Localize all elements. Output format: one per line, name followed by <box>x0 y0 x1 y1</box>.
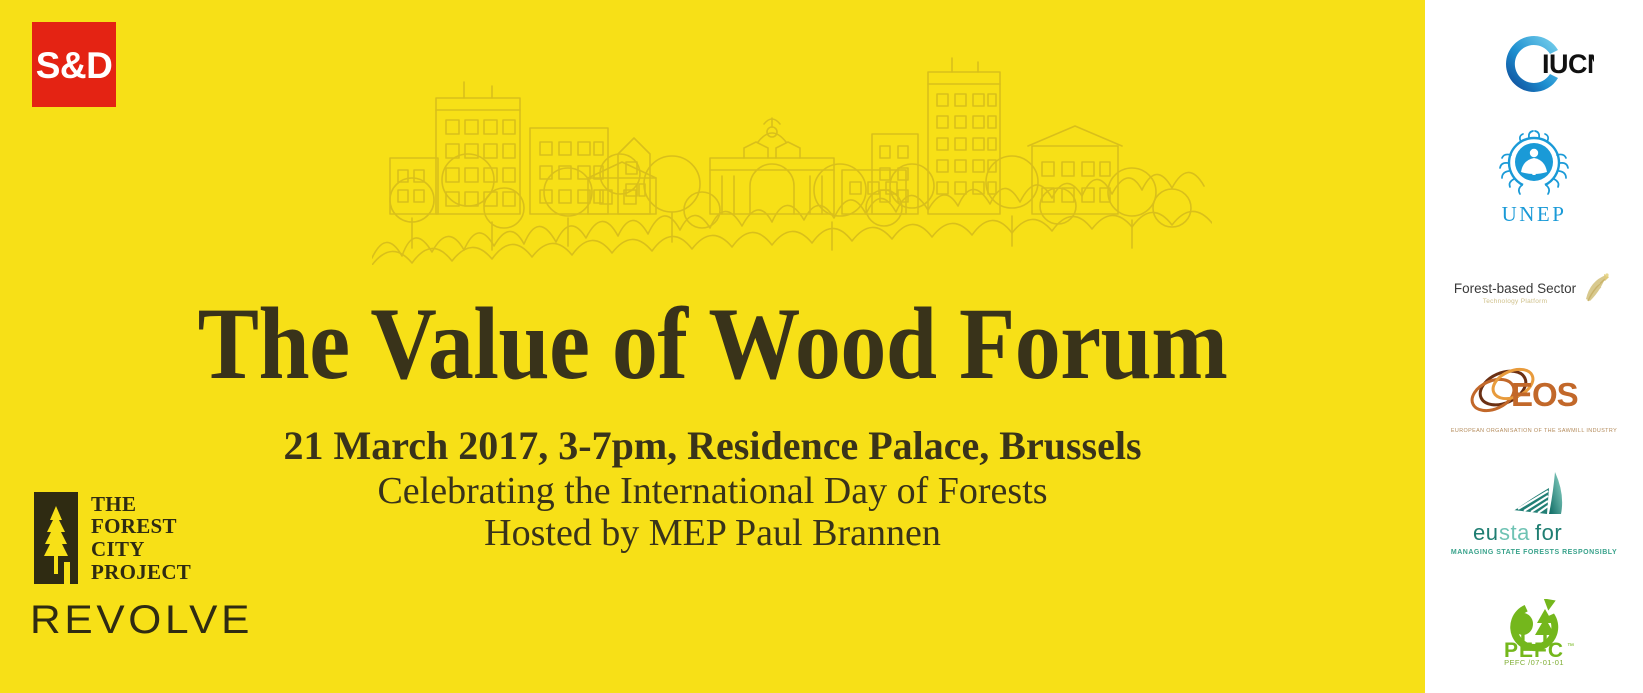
svg-text:IUCN: IUCN <box>1542 49 1594 79</box>
forest-city-project-wordmark: THE FOREST CITY PROJECT <box>91 493 191 584</box>
sd-logo: S&D <box>32 22 116 107</box>
partner-logo-rail: IUCN <box>1425 0 1643 693</box>
partner-logo-pefc: PEFC ™ PEFC /07-01-01 <box>1425 574 1643 693</box>
pefc-subtitle: PEFC /07-01-01 <box>1504 659 1564 668</box>
unep-wordmark: UNEP <box>1502 202 1567 227</box>
svg-text:sta: sta <box>1499 520 1530 545</box>
svg-text:eu: eu <box>1473 520 1498 545</box>
partner-logo-eustafor: eu sta for MANAGING STATE FORESTS RESPON… <box>1425 452 1643 573</box>
eustafor-subtitle: MANAGING STATE FORESTS RESPONSIBLY <box>1451 549 1617 557</box>
partner-logo-iucn: IUCN <box>1425 6 1643 121</box>
forest-city-project-logo: THE FOREST CITY PROJECT <box>34 492 191 584</box>
tree-in-panel-icon <box>34 492 78 584</box>
svg-text:EOS: EOS <box>1511 376 1578 413</box>
sd-logo-text: S&D <box>36 47 113 84</box>
partner-logo-unep: UNEP <box>1425 121 1643 233</box>
fcp-line-1: THE <box>91 493 191 516</box>
partner-logo-eos: EOS EUROPEAN ORGANISATION OF THE SAWMILL… <box>1425 343 1643 452</box>
fcp-line-3: CITY <box>91 538 191 561</box>
svg-text:™: ™ <box>1567 643 1574 650</box>
eos-loops-icon: EOS <box>1459 362 1609 426</box>
fcp-line-2: FOREST <box>91 515 191 538</box>
eos-subtitle: EUROPEAN ORGANISATION OF THE SAWMILL IND… <box>1451 428 1617 434</box>
page-title: The Value of Wood Forum <box>0 292 1425 395</box>
city-skyline-illustration <box>372 50 1212 265</box>
svg-text:PEFC: PEFC <box>1504 639 1564 657</box>
event-tagline: Celebrating the International Day of For… <box>0 470 1425 513</box>
un-globe-laurel-icon <box>1495 129 1573 201</box>
svg-text:for: for <box>1535 520 1562 545</box>
fbs-wordmark: Forest-based Sector <box>1454 281 1576 297</box>
pefc-two-trees-icon: PEFC ™ <box>1488 599 1580 657</box>
eustafor-wordmark-graphic: eu sta for <box>1469 520 1599 546</box>
partner-logo-forest-based-sector: Forest-based Sector Technology Platform <box>1425 234 1643 343</box>
event-details-line: 21 March 2017, 3-7pm, Residence Palace, … <box>0 424 1425 468</box>
revolve-wordmark: REVOLVE <box>30 598 253 643</box>
iucn-ring-icon: IUCN <box>1474 28 1594 100</box>
fbs-subtitle: Technology Platform <box>1454 298 1576 305</box>
main-poster-panel: S&D <box>0 0 1425 693</box>
eustafor-fan-icon <box>1491 470 1577 518</box>
forest-sector-leaf-icon <box>1580 271 1614 305</box>
fcp-line-4: PROJECT <box>91 561 191 584</box>
event-host-line: Hosted by MEP Paul Brannen <box>0 512 1425 555</box>
poster-root: S&D <box>0 0 1643 693</box>
